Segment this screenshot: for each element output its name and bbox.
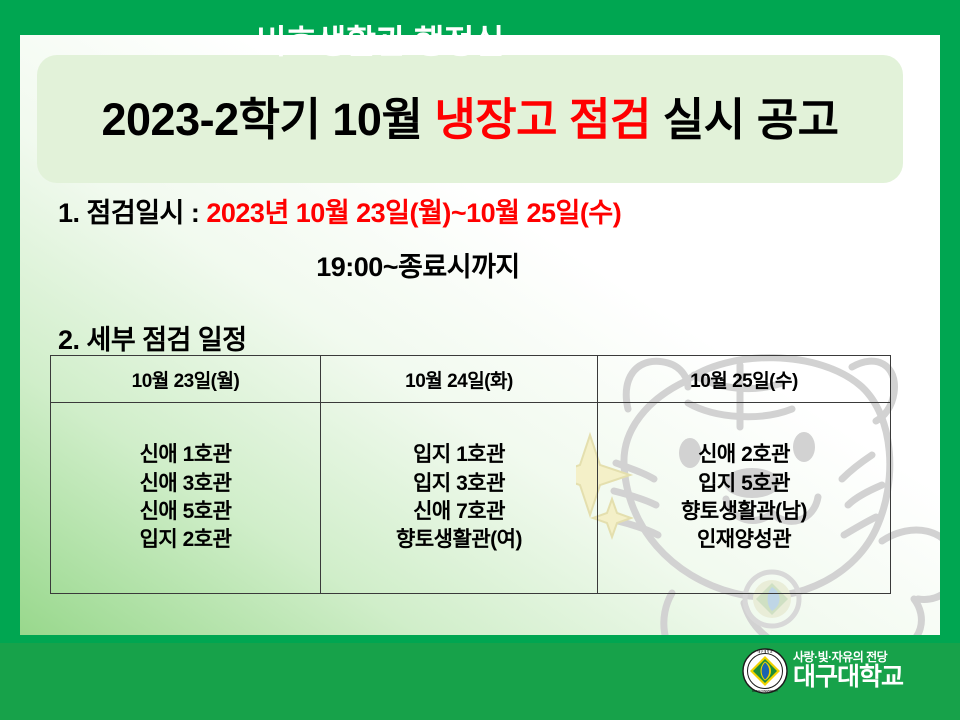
table-cell-day1: 신애 1호관 신애 3호관 신애 5호관 입지 2호관: [51, 403, 321, 594]
building-item: 향토생활관(여): [321, 526, 597, 554]
university-brand: 대 구 대 학 교 DAEGU UNIVERSITY 사랑·빛·자유의 전당 대…: [742, 648, 903, 694]
building-item: 향토생활관(남): [598, 498, 890, 526]
table-header-row: 10월 23일(월) 10월 24일(화) 10월 25일(수): [51, 356, 891, 403]
table-header-cell: 10월 24일(화): [321, 356, 598, 403]
brand-wordmark: 사랑·빛·자유의 전당 대구대학교: [793, 651, 903, 690]
building-item: 입지 3호관: [321, 470, 597, 498]
brand-name: 대구대학교: [793, 664, 903, 690]
inspection-time-line: 19:00~종료시까지: [58, 245, 778, 284]
building-item: 신애 5호관: [51, 498, 320, 526]
svg-text:대 구 대 학 교: 대 구 대 학 교: [758, 650, 773, 654]
building-item: 입지 2호관: [51, 526, 320, 554]
building-item: 입지 1호관: [321, 441, 597, 469]
detailed-schedule-heading: 2. 세부 점검 일정: [58, 318, 247, 357]
poster-content: 1. 점검일시 : 2023년 10월 23일(월)~10월 25일(수) 19…: [20, 35, 940, 635]
inspection-datetime-line: 1. 점검일시 : 2023년 10월 23일(월)~10월 25일(수): [58, 191, 621, 230]
university-seal-icon: 대 구 대 학 교 DAEGU UNIVERSITY: [742, 648, 788, 694]
table-row: 신애 1호관 신애 3호관 신애 5호관 입지 2호관 입지 1호관 입지 3호…: [51, 403, 891, 594]
svg-text:DAEGU UNIVERSITY: DAEGU UNIVERSITY: [752, 689, 778, 693]
inspection-datetime-value: 2023년 10월 23일(월)~10월 25일(수): [206, 198, 621, 228]
table-cell-day3: 신애 2호관 입지 5호관 향토생활관(남) 인재양성관: [598, 403, 891, 594]
poster: 2023-2학기 10월 냉장고 점검 실시 공고 1. 점검일시 : 2023…: [0, 0, 960, 720]
poster-card: 2023-2학기 10월 냉장고 점검 실시 공고 1. 점검일시 : 2023…: [20, 35, 940, 635]
table-header-cell: 10월 25일(수): [598, 356, 891, 403]
building-item: 신애 2호관: [598, 441, 890, 469]
building-item: 신애 3호관: [51, 470, 320, 498]
building-item: 인재양성관: [598, 526, 890, 554]
building-item: 신애 7호관: [321, 498, 597, 526]
table-header-cell: 10월 23일(월): [51, 356, 321, 403]
building-item: 입지 5호관: [598, 470, 890, 498]
building-item: 신애 1호관: [51, 441, 320, 469]
inspection-datetime-label: 1. 점검일시 :: [58, 198, 206, 228]
table-cell-day2: 입지 1호관 입지 3호관 신애 7호관 향토생활관(여): [321, 403, 598, 594]
footer-office-name: 비호생활관 행정실: [0, 0, 960, 77]
schedule-table: 10월 23일(월) 10월 24일(화) 10월 25일(수) 신애 1호관 …: [50, 355, 891, 594]
